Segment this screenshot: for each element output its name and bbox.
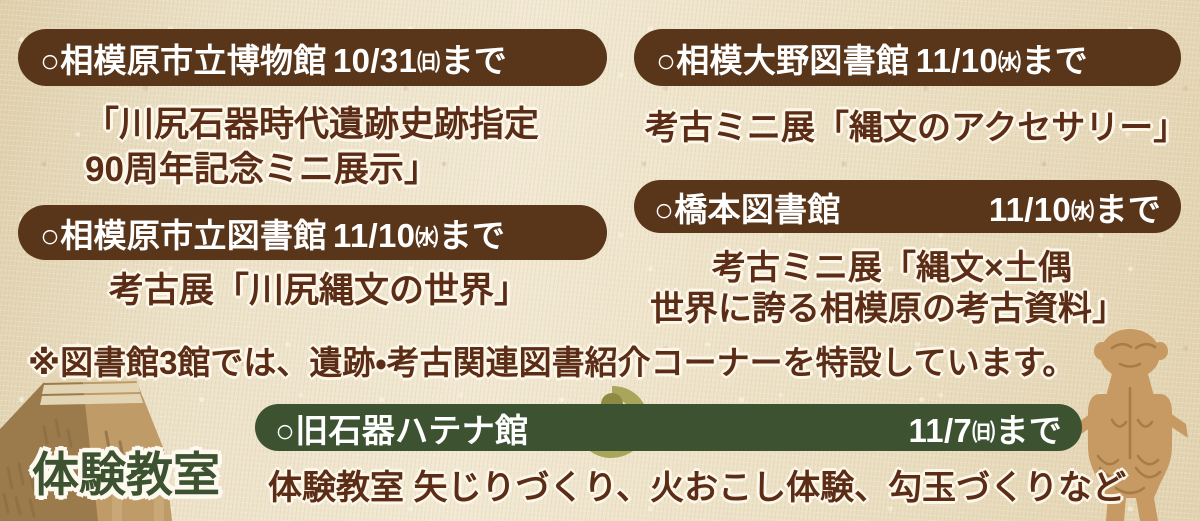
hands-on-class-badge: 体験教室 (32, 436, 220, 505)
event-pill-museum[interactable]: ○相模原市立博物館 10/31㈰まで (18, 29, 607, 86)
event-description-city-library-line1: 考古展「川尻縄文の世界」 (109, 262, 529, 313)
event-until-museum: 10/31㈰まで (333, 34, 507, 82)
event-until-ono-library: 11/10㈬まで (916, 34, 1088, 82)
event-pill-city-library[interactable]: ○相模原市立図書館 11/10㈬まで (18, 205, 607, 260)
event-venue-hatena: ○旧石器ハテナ館 (275, 404, 528, 452)
event-until-city-library: 11/10㈬まで (333, 209, 505, 257)
event-description-museum-line2: 90周年記念ミニ展示」 (85, 141, 439, 192)
event-venue-museum: ○相模原市立博物館 (40, 34, 327, 82)
event-description-ono-library-line1: 考古ミニ展「縄文のアクセサリー」 (645, 100, 1187, 149)
event-until-hashimoto-library: 11/10㈬まで (989, 183, 1161, 231)
event-until-hatena: 11/7㈰まで (908, 404, 1062, 452)
event-description-museum-line1: 「川尻石器時代遺跡史跡指定 (84, 96, 539, 147)
event-venue-hashimoto-library: ○橋本図書館 (654, 183, 841, 231)
event-description-hatena-line1: 体験教室 矢じりづくり、火おこし体験、勾玉づくりなど (268, 460, 1126, 509)
poster-canvas: ○相模原市立博物館 10/31㈰まで 「川尻石器時代遺跡史跡指定 90周年記念ミ… (0, 0, 1200, 521)
event-venue-city-library: ○相模原市立図書館 (40, 209, 327, 257)
event-venue-ono-library: ○相模大野図書館 (656, 34, 909, 82)
event-pill-hatena[interactable]: ○旧石器ハテナ館 11/7㈰まで (255, 404, 1082, 451)
event-description-hashimoto-line2: 世界に誇る相模原の考古資料」 (650, 281, 1126, 330)
libraries-note: ※図書館3館では、遺跡・考古関連図書紹介コーナーを特設しています。 (28, 336, 1075, 384)
event-pill-hashimoto-library[interactable]: ○橋本図書館 11/10㈬まで (634, 180, 1181, 233)
event-pill-ono-library[interactable]: ○相模大野図書館 11/10㈬まで (634, 29, 1181, 86)
